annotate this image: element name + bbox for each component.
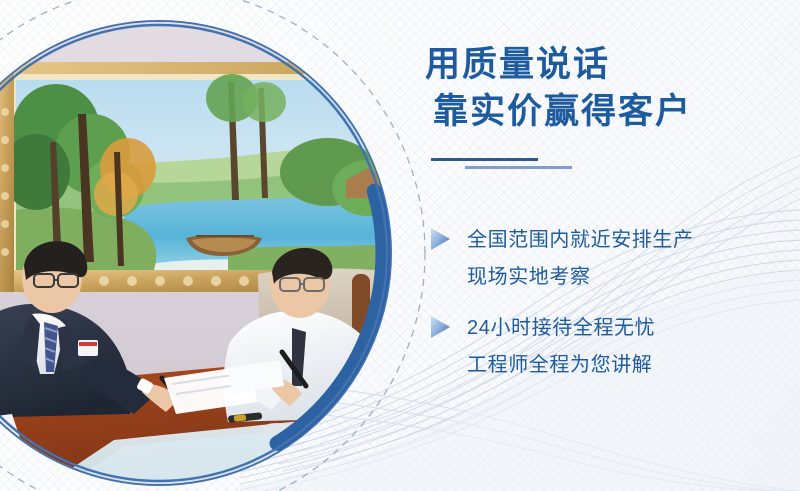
triangle-right-icon xyxy=(428,315,453,339)
promo-banner: 用质量说话 靠实价赢得客户 全国范围内就 xyxy=(0,0,800,491)
headline-line-2: 靠实价赢得客户 xyxy=(433,89,800,136)
bullet-item-1: 全国范围内就近安排生产 现场实地考察 xyxy=(425,222,800,296)
headline-block: 用质量说话 靠实价赢得客户 xyxy=(425,42,800,136)
photo-image xyxy=(0,22,390,484)
bullet-item-2: 24小时接待全程无忧 工程师全程为您讲解 xyxy=(425,310,800,384)
divider-line-dark xyxy=(431,158,538,161)
bullet-1-line-1: 全国范围内就近安排生产 xyxy=(467,222,800,259)
triangle-right-icon xyxy=(428,227,453,251)
headline-divider xyxy=(425,152,800,174)
bullet-2-line-2: 工程师全程为您讲解 xyxy=(467,347,800,384)
bullet-2-line-1: 24小时接待全程无忧 xyxy=(467,310,800,347)
bullet-list: 全国范围内就近安排生产 现场实地考察 24小时接待全程无忧 工程师全程为您讲解 xyxy=(425,222,800,398)
headline-line-1: 用质量说话 xyxy=(425,42,800,89)
circular-photo xyxy=(0,22,390,484)
divider-line-light xyxy=(465,166,572,169)
bullet-1-line-2: 现场实地考察 xyxy=(467,259,800,296)
banner-content: 用质量说话 靠实价赢得客户 全国范围内就 xyxy=(425,0,800,491)
